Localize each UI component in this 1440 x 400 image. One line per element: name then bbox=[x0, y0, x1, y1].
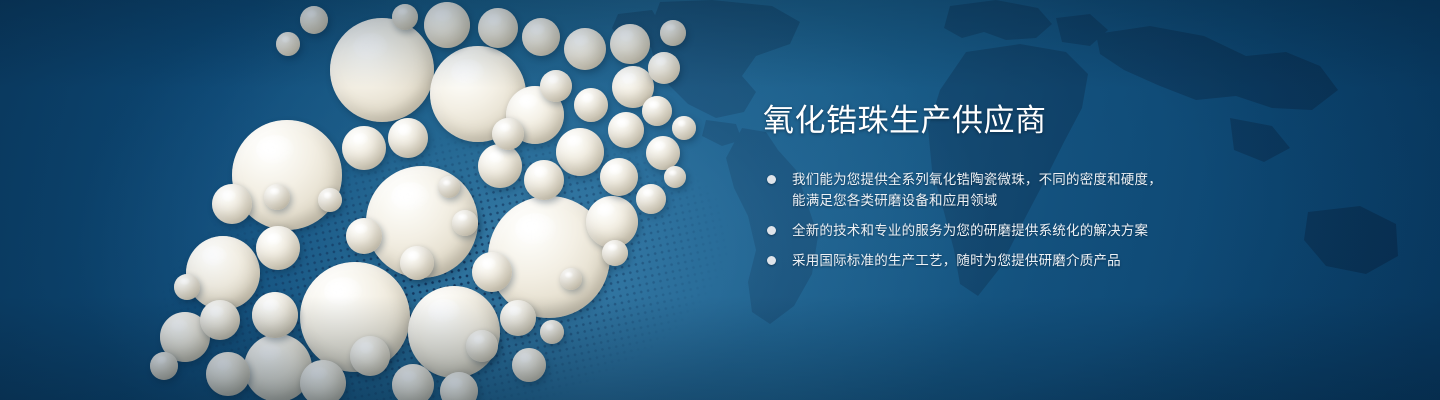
banner-copy: 氧化锆珠生产供应商 我们能为您提供全系列氧化锆陶瓷微珠，不同的密度和硬度， 能满… bbox=[763, 104, 1223, 271]
bullet-dot-icon bbox=[767, 256, 776, 265]
list-item: 采用国际标准的生产工艺，随时为您提供研磨介质产品 bbox=[763, 250, 1223, 271]
list-item-line-2: 能满足您各类研磨设备和应用领域 bbox=[792, 190, 1223, 211]
bullet-dot-icon bbox=[767, 226, 776, 235]
list-item-line-1: 采用国际标准的生产工艺，随时为您提供研磨介质产品 bbox=[792, 253, 1121, 268]
feature-list: 我们能为您提供全系列氧化锆陶瓷微珠，不同的密度和硬度， 能满足您各类研磨设备和应… bbox=[763, 169, 1223, 271]
hero-banner: 氧化锆珠生产供应商 我们能为您提供全系列氧化锆陶瓷微珠，不同的密度和硬度， 能满… bbox=[0, 0, 1440, 400]
list-item-label: 采用国际标准的生产工艺，随时为您提供研磨介质产品 bbox=[792, 250, 1223, 271]
background-vignette bbox=[0, 0, 1440, 400]
bullet-dot-icon bbox=[767, 175, 776, 184]
list-item: 我们能为您提供全系列氧化锆陶瓷微珠，不同的密度和硬度， 能满足您各类研磨设备和应… bbox=[763, 169, 1223, 211]
list-item-label: 我们能为您提供全系列氧化锆陶瓷微珠，不同的密度和硬度， 能满足您各类研磨设备和应… bbox=[792, 169, 1223, 211]
list-item-line-1: 全新的技术和专业的服务为您的研磨提供系统化的解决方案 bbox=[792, 223, 1148, 238]
page-title: 氧化锆珠生产供应商 bbox=[763, 104, 1223, 139]
list-item: 全新的技术和专业的服务为您的研磨提供系统化的解决方案 bbox=[763, 220, 1223, 241]
list-item-line-1: 我们能为您提供全系列氧化锆陶瓷微珠，不同的密度和硬度， bbox=[792, 172, 1162, 187]
list-item-label: 全新的技术和专业的服务为您的研磨提供系统化的解决方案 bbox=[792, 220, 1223, 241]
